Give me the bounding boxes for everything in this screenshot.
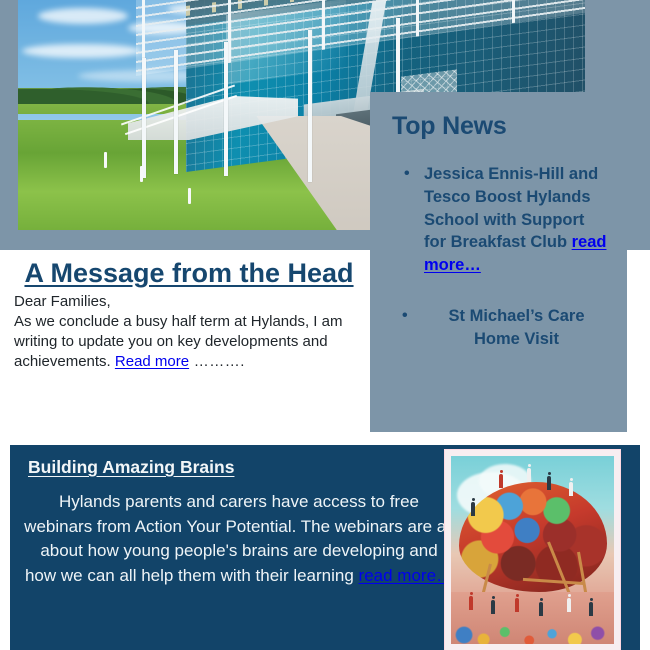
canopy-post (308, 30, 312, 182)
worker-figure (547, 476, 551, 490)
bollard (140, 166, 143, 182)
top-news-list: •Jessica Ennis-Hill and Tesco Boost Hyla… (390, 163, 607, 350)
canopy-post (224, 42, 228, 176)
debris (451, 614, 614, 644)
building-amazing-brains-panel: Building Amazing Brains Hylands parents … (10, 445, 640, 650)
read-more-link[interactable]: read more… (359, 566, 453, 585)
worker-figure (567, 598, 571, 612)
top-news-panel: Top News •Jessica Ennis-Hill and Tesco B… (370, 92, 627, 432)
news-list-item[interactable]: •Jessica Ennis-Hill and Tesco Boost Hyla… (390, 163, 607, 277)
brain-illustration-frame (445, 450, 620, 650)
canopy-beam (322, 0, 325, 50)
bullet-icon: • (404, 163, 410, 185)
head-message-panel: A Message from the Head Dear Families, A… (0, 250, 370, 440)
salutation: Dear Families, (14, 293, 111, 310)
news-list-item[interactable]: •St Michael’s Care Home Visit (390, 305, 607, 351)
worker-figure (527, 468, 531, 482)
head-message-title[interactable]: A Message from the Head (14, 258, 364, 288)
cloud (22, 44, 142, 58)
canopy-post (142, 58, 146, 178)
worker-figure (569, 482, 573, 496)
cloud (38, 8, 128, 24)
trailing-dots: ………. (189, 353, 245, 370)
brains-body: Hylands parents and carers have access t… (24, 490, 454, 589)
worker-figure (515, 598, 519, 612)
worker-figure (469, 596, 473, 610)
canopy-beam (416, 0, 419, 37)
canopy-beam (512, 0, 515, 23)
head-message-body: Dear Families, As we conclude a busy hal… (14, 292, 364, 372)
bollard (188, 188, 191, 204)
worker-figure (539, 602, 543, 616)
news-item-text: St Michael’s Care Home Visit (448, 307, 584, 348)
worker-figure (499, 474, 503, 488)
canopy-post (174, 50, 178, 174)
top-news-title: Top News (392, 112, 607, 141)
bullet-icon: • (402, 305, 408, 327)
read-more-link[interactable]: Read more (115, 353, 189, 370)
worker-figure (471, 502, 475, 516)
brain-illustration (451, 456, 614, 644)
bollard (104, 152, 107, 168)
newsletter-page: Top News •Jessica Ennis-Hill and Tesco B… (0, 0, 650, 650)
worker-figure (589, 602, 593, 616)
worker-figure (491, 600, 495, 614)
canopy-beam (228, 0, 231, 63)
